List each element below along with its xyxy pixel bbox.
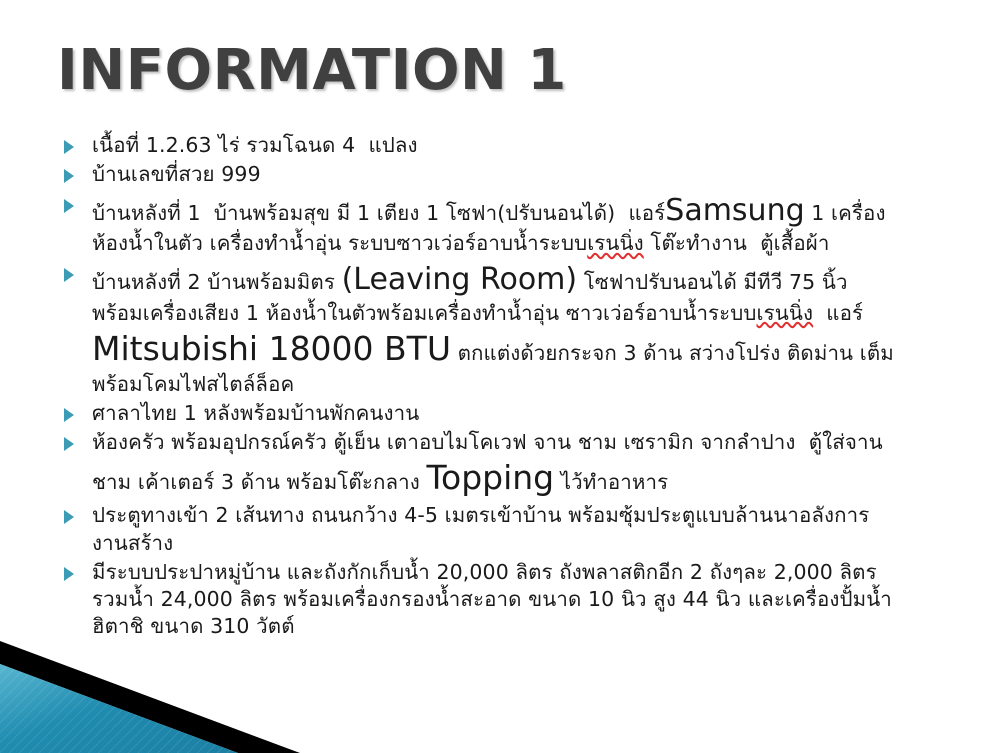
text-run: Samsung xyxy=(665,193,804,228)
text-run: ตกแต่งด้วยกระจก 3 ด้าน สว่างโปร่ง ติดม่า… xyxy=(451,341,894,365)
triangle-right-icon xyxy=(62,502,92,525)
text-run: บ้านเลขที่สวย 999 xyxy=(92,162,261,186)
list-item-text: บ้านหลังที่ 1 บ้านพร้อมสุข มี 1 เตียง 1 … xyxy=(92,191,962,258)
text-run: 1 เครื่อง xyxy=(805,201,886,225)
text-run: ฮิตาชิ ขนาด 310 วัตต์ xyxy=(92,614,295,638)
text-run: แอร์ xyxy=(813,301,863,325)
list-item-text: ประตูทางเข้า 2 เส้นทาง ถนนกว้าง 4-5 เมตร… xyxy=(92,502,962,557)
presentation-slide: INFORMATION 1 เนื้อที่ 1.2.63 ไร่ รวมโฉน… xyxy=(0,0,1000,753)
text-line: พร้อมโคมไฟสไตล์ล็อค xyxy=(92,371,962,398)
list-item: เนื้อที่ 1.2.63 ไร่ รวมโฉนด 4 แปลง xyxy=(62,132,962,159)
text-run: ห้องครัว พร้อมอุปกรณ์ครัว ตู้เย็น เตาอบไ… xyxy=(92,430,883,454)
text-line: เนื้อที่ 1.2.63 ไร่ รวมโฉนด 4 แปลง xyxy=(92,132,962,159)
bullet-list: เนื้อที่ 1.2.63 ไร่ รวมโฉนด 4 แปลงบ้านเล… xyxy=(62,132,962,643)
list-item: ประตูทางเข้า 2 เส้นทาง ถนนกว้าง 4-5 เมตร… xyxy=(62,502,962,557)
list-item: มีระบบประปาหมู่บ้าน และถังกักเก็บน้ำ 20,… xyxy=(62,559,962,641)
triangle-right-icon xyxy=(62,191,92,214)
list-item-text: บ้านหลังที่ 2 บ้านพร้อมมิตร (Leaving Roo… xyxy=(92,260,962,398)
text-line: มีระบบประปาหมู่บ้าน และถังกักเก็บน้ำ 20,… xyxy=(92,559,962,586)
text-run: งานสร้าง xyxy=(92,531,173,555)
triangle-right-icon xyxy=(62,429,92,452)
text-run: เรนนิ่ง xyxy=(587,231,644,255)
text-line: งานสร้าง xyxy=(92,530,962,557)
list-item: บ้านหลังที่ 1 บ้านพร้อมสุข มี 1 เตียง 1 … xyxy=(62,191,962,258)
text-run: Mitsubishi 18000 BTU xyxy=(92,329,451,368)
text-run: ห้องน้ำในตัว เครื่องทำน้ำอุ่น ระบบซาวเว่… xyxy=(92,231,587,255)
text-run: (Leaving Room) xyxy=(342,262,578,297)
list-item: บ้านหลังที่ 2 บ้านพร้อมมิตร (Leaving Roo… xyxy=(62,260,962,398)
text-line: ฮิตาชิ ขนาด 310 วัตต์ xyxy=(92,613,962,640)
text-line: บ้านหลังที่ 1 บ้านพร้อมสุข มี 1 เตียง 1 … xyxy=(92,191,962,231)
text-line: บ้านเลขที่สวย 999 xyxy=(92,161,962,188)
triangle-right-icon xyxy=(62,559,92,582)
text-line: Mitsubishi 18000 BTU ตกแต่งด้วยกระจก 3 ด… xyxy=(92,327,962,371)
text-run: Topping xyxy=(426,458,554,497)
text-run: ประตูทางเข้า 2 เส้นทาง ถนนกว้าง 4-5 เมตร… xyxy=(92,503,869,527)
list-item-text: ห้องครัว พร้อมอุปกรณ์ครัว ตู้เย็น เตาอบไ… xyxy=(92,429,962,500)
list-item-text: เนื้อที่ 1.2.63 ไร่ รวมโฉนด 4 แปลง xyxy=(92,132,962,159)
text-run: โต๊ะทำงาน ตู้เสื้อผ้า xyxy=(644,231,830,255)
text-run: ไว้ทำอาหาร xyxy=(554,470,668,494)
text-run: บ้านหลังที่ 1 บ้านพร้อมสุข มี 1 เตียง 1 … xyxy=(92,201,665,225)
text-run: พร้อมเครื่องเสียง 1 ห้องน้ำในตัวพร้อมเคร… xyxy=(92,301,757,325)
triangle-right-icon xyxy=(62,400,92,423)
text-run: ศาลาไทย 1 หลังพร้อมบ้านพักคนงาน xyxy=(92,401,419,425)
text-run: บ้านหลังที่ 2 บ้านพร้อมมิตร xyxy=(92,270,342,294)
triangle-right-icon xyxy=(62,260,92,283)
list-item: บ้านเลขที่สวย 999 xyxy=(62,161,962,188)
text-run: โซฟาปรับนอนได้ มีทีวี 75 นิ้ว xyxy=(577,270,847,294)
list-item: ห้องครัว พร้อมอุปกรณ์ครัว ตู้เย็น เตาอบไ… xyxy=(62,429,962,500)
text-run: เนื้อที่ 1.2.63 ไร่ รวมโฉนด 4 แปลง xyxy=(92,133,418,157)
text-run: เรนนิ่ง xyxy=(757,301,814,325)
text-line: รวมน้ำ 24,000 ลิตร พร้อมเครื่องกรองน้ำสะ… xyxy=(92,586,962,613)
text-run: ชาม เค้าเตอร์ 3 ด้าน พร้อมโต๊ะกลาง xyxy=(92,470,426,494)
text-line: ศาลาไทย 1 หลังพร้อมบ้านพักคนงาน xyxy=(92,400,962,427)
triangle-right-icon xyxy=(62,161,92,184)
text-line: บ้านหลังที่ 2 บ้านพร้อมมิตร (Leaving Roo… xyxy=(92,260,962,300)
list-item: ศาลาไทย 1 หลังพร้อมบ้านพักคนงาน xyxy=(62,400,962,427)
list-item-text: บ้านเลขที่สวย 999 xyxy=(92,161,962,188)
text-run: มีระบบประปาหมู่บ้าน และถังกักเก็บน้ำ 20,… xyxy=(92,560,877,584)
list-item-text: ศาลาไทย 1 หลังพร้อมบ้านพักคนงาน xyxy=(92,400,962,427)
text-run: รวมน้ำ 24,000 ลิตร พร้อมเครื่องกรองน้ำสะ… xyxy=(92,587,892,611)
text-run: พร้อมโคมไฟสไตล์ล็อค xyxy=(92,372,294,396)
page-title: INFORMATION 1 xyxy=(57,42,567,101)
text-line: ห้องน้ำในตัว เครื่องทำน้ำอุ่น ระบบซาวเว่… xyxy=(92,230,962,257)
text-line: ชาม เค้าเตอร์ 3 ด้าน พร้อมโต๊ะกลาง Toppi… xyxy=(92,456,962,500)
list-item-text: มีระบบประปาหมู่บ้าน และถังกักเก็บน้ำ 20,… xyxy=(92,559,962,641)
text-line: ประตูทางเข้า 2 เส้นทาง ถนนกว้าง 4-5 เมตร… xyxy=(92,502,962,529)
triangle-right-icon xyxy=(62,132,92,155)
text-line: ห้องครัว พร้อมอุปกรณ์ครัว ตู้เย็น เตาอบไ… xyxy=(92,429,962,456)
text-line: พร้อมเครื่องเสียง 1 ห้องน้ำในตัวพร้อมเคร… xyxy=(92,300,962,327)
